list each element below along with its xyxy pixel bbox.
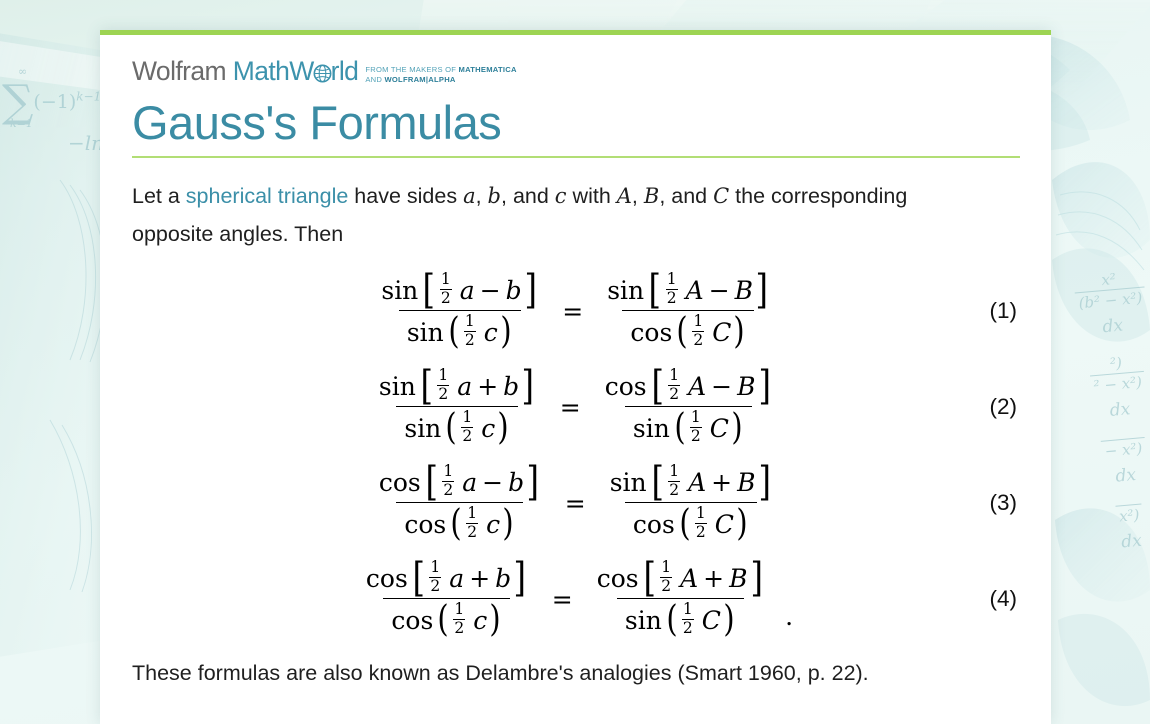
trig-expression: sin[12A+B]: [610, 465, 772, 499]
trig-expression: cos[12a+b]: [366, 561, 528, 595]
one-half-fraction: 12: [442, 464, 454, 498]
half-denominator: 2: [695, 523, 707, 541]
link-spherical-triangle[interactable]: spherical triangle: [186, 184, 349, 208]
trig-arg-right: b: [508, 468, 524, 497]
trailing-punctuation: .: [785, 602, 793, 637]
fraction-numerator: cos[12a+b]: [358, 561, 536, 598]
site-logo[interactable]: Wolfram MathWrld From the makers of Math…: [132, 56, 1019, 86]
equation-number: (1): [990, 298, 1018, 324]
half-numerator: 1: [454, 602, 464, 619]
bg-formula-second: −ln: [68, 132, 104, 154]
half-numerator: 1: [669, 368, 679, 385]
trig-arg-right: B: [735, 276, 753, 305]
trig-function-name: sin: [379, 372, 416, 401]
trig-expression: sin[12a−b]: [381, 273, 538, 307]
half-denominator: 2: [668, 481, 680, 499]
half-numerator: 1: [661, 560, 671, 577]
bg-integral-row: x² (b² − x²) dx: [1073, 268, 1148, 340]
half-numerator: 1: [683, 602, 693, 619]
equals-sign: =: [557, 393, 584, 422]
half-numerator: 1: [438, 368, 448, 385]
half-numerator: 1: [467, 506, 477, 523]
fraction-numerator: sin[12a+b]: [371, 369, 544, 406]
trig-function-name: cos: [404, 510, 446, 539]
equals-sign: =: [562, 489, 589, 518]
half-denominator: 2: [666, 289, 678, 307]
trig-arg-right: b: [495, 564, 511, 593]
half-denominator: 2: [429, 577, 441, 595]
trig-arg-left: c: [481, 414, 495, 443]
tagline-wolframalpha: Wolfram|Alpha: [384, 75, 455, 84]
equation-expression: sin[12a−b]sin(12c)=sin[12A−B]cos(12C): [373, 273, 777, 349]
bg-frac-denominator: x²): [1115, 504, 1143, 526]
var-C: C: [713, 184, 729, 208]
intro-seg-1: Let a: [132, 184, 186, 208]
fraction-denominator: sin(12C): [617, 598, 744, 637]
bg-integral-row: x²) dx: [1094, 501, 1150, 555]
equation-left-side: sin[12a−b]sin(12c): [373, 273, 546, 349]
tagline-prefix: From the makers of: [365, 65, 458, 74]
trig-function-name: sin: [404, 414, 441, 443]
fraction-denominator: sin(12c): [396, 406, 518, 445]
bg-sum-lower-limit: k=1: [10, 118, 33, 130]
half-numerator: 1: [691, 410, 701, 427]
trig-operator: +: [703, 564, 724, 593]
half-denominator: 2: [461, 427, 473, 445]
trig-arg-left: C: [702, 606, 721, 635]
trig-expression: cos(12c): [404, 507, 515, 541]
fraction-denominator: cos(12C): [625, 502, 757, 541]
equation-right-side: cos[12A+B]sin(12C): [589, 561, 772, 637]
intro-sep-3: ,: [632, 184, 644, 208]
one-half-fraction: 12: [466, 506, 478, 540]
trig-expression: sin(12C): [625, 603, 736, 637]
half-numerator: 1: [669, 464, 679, 481]
tagline-line-2: and Wolfram|Alpha: [365, 75, 516, 85]
trig-arg-left: a: [460, 276, 475, 305]
equals-sign: =: [559, 297, 586, 326]
tagline-line-1: From the makers of Mathematica: [365, 65, 516, 75]
equation-left-side: sin[12a+b]sin(12c): [371, 369, 544, 445]
trig-arg-left: A: [688, 468, 706, 497]
trig-arg-left: a: [449, 564, 464, 593]
trig-function-name: sin: [633, 414, 670, 443]
trig-expression: sin(12c): [407, 315, 513, 349]
one-half-fraction: 12: [660, 560, 672, 594]
fraction-denominator: cos(12c): [383, 598, 510, 637]
trig-arg-left: c: [473, 606, 487, 635]
trig-function-name: cos: [630, 318, 672, 347]
half-denominator: 2: [440, 289, 452, 307]
equation-left-side: cos[12a−b]cos(12c): [371, 465, 549, 541]
trig-function-name: sin: [607, 276, 644, 305]
fraction-denominator: cos(12c): [396, 502, 523, 541]
intro-paragraph: Let a spherical triangle have sides a, b…: [132, 158, 962, 253]
fraction-denominator: sin(12c): [399, 310, 521, 349]
trig-operator: +: [477, 372, 498, 401]
one-half-fraction: 12: [464, 314, 476, 348]
equation-expression: cos[12a−b]cos(12c)=sin[12A+B]cos(12C): [371, 465, 780, 541]
trig-arg-left: c: [486, 510, 500, 539]
one-half-fraction: 12: [453, 602, 465, 636]
trig-function-name: sin: [407, 318, 444, 347]
trig-arg-left: C: [712, 318, 731, 347]
bg-frac-denominator: (b² − x²): [1075, 286, 1146, 312]
trig-function-name: cos: [391, 606, 433, 635]
equation-number: (4): [990, 586, 1018, 612]
fraction-numerator: cos[12A−B]: [597, 369, 780, 406]
intro-sep-1: ,: [476, 184, 488, 208]
half-denominator: 2: [682, 619, 694, 637]
var-c: c: [555, 184, 567, 208]
fraction-numerator: sin[12A−B]: [599, 273, 777, 310]
equation-list: sin[12a−b]sin(12c)=sin[12A−B]cos(12C)(1)…: [132, 263, 1019, 647]
equals-sign: =: [549, 585, 576, 614]
trig-expression: cos(12C): [630, 315, 746, 349]
equation-right-side: sin[12A+B]cos(12C): [602, 465, 780, 541]
closing-paragraph: These formulas are also known as Delambr…: [132, 647, 1019, 692]
one-half-fraction: 12: [429, 560, 441, 594]
one-half-fraction: 12: [461, 410, 473, 444]
trig-arg-right: B: [729, 564, 747, 593]
half-numerator: 1: [667, 272, 677, 289]
equation-right-side: cos[12A−B]sin(12C): [597, 369, 780, 445]
trig-arg-left: A: [680, 564, 698, 593]
trig-arg-left: a: [457, 372, 472, 401]
trig-expression: sin(12C): [633, 411, 744, 445]
trig-arg-left: A: [688, 372, 706, 401]
one-half-fraction: 12: [692, 314, 704, 348]
half-denominator: 2: [437, 385, 449, 403]
half-denominator: 2: [466, 523, 478, 541]
logo-wordmark[interactable]: Wolfram MathWrld: [132, 56, 358, 89]
trig-expression: sin[12a+b]: [379, 369, 536, 403]
trig-expression: sin[12A−B]: [607, 273, 769, 307]
trig-function-name: cos: [366, 564, 408, 593]
trig-arg-left: c: [484, 318, 498, 347]
logo-rld-text: rld: [331, 56, 359, 86]
half-denominator: 2: [660, 577, 672, 595]
trig-function-name: sin: [610, 468, 647, 497]
equation-number: (3): [990, 490, 1018, 516]
equation-expression: sin[12a+b]sin(12c)=cos[12A−B]sin(12C): [371, 369, 780, 445]
bg-frac-denominator: − x²): [1101, 437, 1146, 461]
fraction-numerator: sin[12a−b]: [373, 273, 546, 310]
trig-arg-right: b: [506, 276, 522, 305]
half-denominator: 2: [692, 331, 704, 349]
trig-operator: +: [711, 468, 732, 497]
half-numerator: 1: [443, 464, 453, 481]
bg-differential: dx: [1121, 531, 1143, 553]
half-numerator: 1: [430, 560, 440, 577]
background-formula-left: ∞ ∑ k=1 (−1)k−1 −ln: [2, 78, 104, 154]
trig-arg-left: C: [715, 510, 734, 539]
equation-number: (2): [990, 394, 1018, 420]
page-title: Gauss's Formulas: [132, 86, 1019, 150]
bg-differential: dx: [1109, 399, 1131, 421]
trig-arg-left: a: [462, 468, 477, 497]
intro-sep-4: , and: [659, 184, 713, 208]
bg-term-exponent: k−1: [76, 90, 101, 104]
one-half-fraction: 12: [695, 506, 707, 540]
intro-seg-2: have sides: [348, 184, 463, 208]
one-half-fraction: 12: [682, 602, 694, 636]
equation-expression: cos[12a+b]cos(12c)=cos[12A+B]sin(12C).: [358, 561, 793, 637]
trig-function-name: cos: [597, 564, 639, 593]
half-numerator: 1: [462, 410, 472, 427]
var-A: A: [617, 184, 632, 208]
half-denominator: 2: [453, 619, 465, 637]
half-denominator: 2: [442, 481, 454, 499]
trig-arg-right: b: [503, 372, 519, 401]
trig-arg-right: B: [737, 372, 755, 401]
trig-function-name: sin: [625, 606, 662, 635]
bg-integral-row: − x²) dx: [1088, 435, 1150, 489]
logo-wolfram-text: Wolfram: [132, 56, 226, 86]
trig-expression: cos(12c): [391, 603, 502, 637]
var-b: b: [488, 184, 501, 208]
trig-expression: sin(12c): [404, 411, 510, 445]
fraction-numerator: cos[12A+B]: [589, 561, 772, 598]
equation-row: cos[12a−b]cos(12c)=sin[12A+B]cos(12C)(3): [132, 455, 1019, 551]
logo-mathworld-text: MathWrld: [233, 56, 359, 86]
trig-expression: cos[12a−b]: [379, 465, 541, 499]
half-denominator: 2: [668, 385, 680, 403]
var-a: a: [463, 184, 476, 208]
one-half-fraction: 12: [440, 272, 452, 306]
trig-operator: −: [711, 372, 732, 401]
trig-operator: −: [480, 276, 501, 305]
trig-arg-right: B: [737, 468, 755, 497]
tagline-mathematica: Mathematica: [459, 65, 517, 74]
equation-left-side: cos[12a+b]cos(12c): [358, 561, 536, 637]
bg-term: (−1): [33, 91, 76, 113]
trig-expression: cos[12A+B]: [597, 561, 764, 595]
globe-icon: [313, 59, 332, 89]
half-denominator: 2: [464, 331, 476, 349]
one-half-fraction: 12: [668, 368, 680, 402]
trig-arg-left: A: [686, 276, 704, 305]
intro-sep-2: , and: [501, 184, 555, 208]
trig-operator: −: [709, 276, 730, 305]
bg-frac-denominator: ² − x²): [1090, 371, 1146, 396]
equation-row: sin[12a+b]sin(12c)=cos[12A−B]sin(12C)(2): [132, 359, 1019, 455]
bg-integral-row: ²) ² − x²) dx: [1080, 351, 1150, 423]
equation-row: cos[12a+b]cos(12c)=cos[12A+B]sin(12C).(4…: [132, 551, 1019, 647]
var-B: B: [644, 184, 659, 208]
half-numerator: 1: [696, 506, 706, 523]
one-half-fraction: 12: [437, 368, 449, 402]
bg-frac-numerator: x²: [1098, 270, 1120, 291]
one-half-fraction: 12: [690, 410, 702, 444]
trig-expression: cos[12A−B]: [605, 369, 772, 403]
fraction-numerator: sin[12A+B]: [602, 465, 780, 502]
bg-frac-numerator: ²): [1106, 353, 1125, 373]
bg-differential: dx: [1115, 465, 1137, 487]
bg-differential: dx: [1102, 316, 1124, 338]
half-numerator: 1: [465, 314, 475, 331]
trig-function-name: cos: [379, 468, 421, 497]
trig-function-name: sin: [381, 276, 418, 305]
intro-seg-3: with: [567, 184, 617, 208]
trig-arg-left: C: [710, 414, 729, 443]
half-numerator: 1: [441, 272, 451, 289]
fraction-numerator: cos[12a−b]: [371, 465, 549, 502]
fraction-denominator: sin(12C): [625, 406, 752, 445]
logo-tagline: From the makers of Mathematica and Wolfr…: [365, 56, 516, 84]
logo-mathw-text: MathW: [233, 56, 314, 86]
one-half-fraction: 12: [666, 272, 678, 306]
fraction-denominator: cos(12C): [622, 310, 754, 349]
trig-expression: cos(12C): [633, 507, 749, 541]
trig-function-name: cos: [633, 510, 675, 539]
equation-row: sin[12a−b]sin(12c)=sin[12A−B]cos(12C)(1): [132, 263, 1019, 359]
article-card: Wolfram MathWrld From the makers of Math…: [100, 30, 1051, 724]
trig-operator: +: [469, 564, 490, 593]
half-numerator: 1: [693, 314, 703, 331]
one-half-fraction: 12: [668, 464, 680, 498]
equation-right-side: sin[12A−B]cos(12C): [599, 273, 777, 349]
trig-operator: −: [482, 468, 503, 497]
half-denominator: 2: [690, 427, 702, 445]
bg-sum-upper-limit: ∞: [18, 66, 27, 78]
tagline-and: and: [365, 75, 384, 84]
trig-function-name: cos: [605, 372, 647, 401]
